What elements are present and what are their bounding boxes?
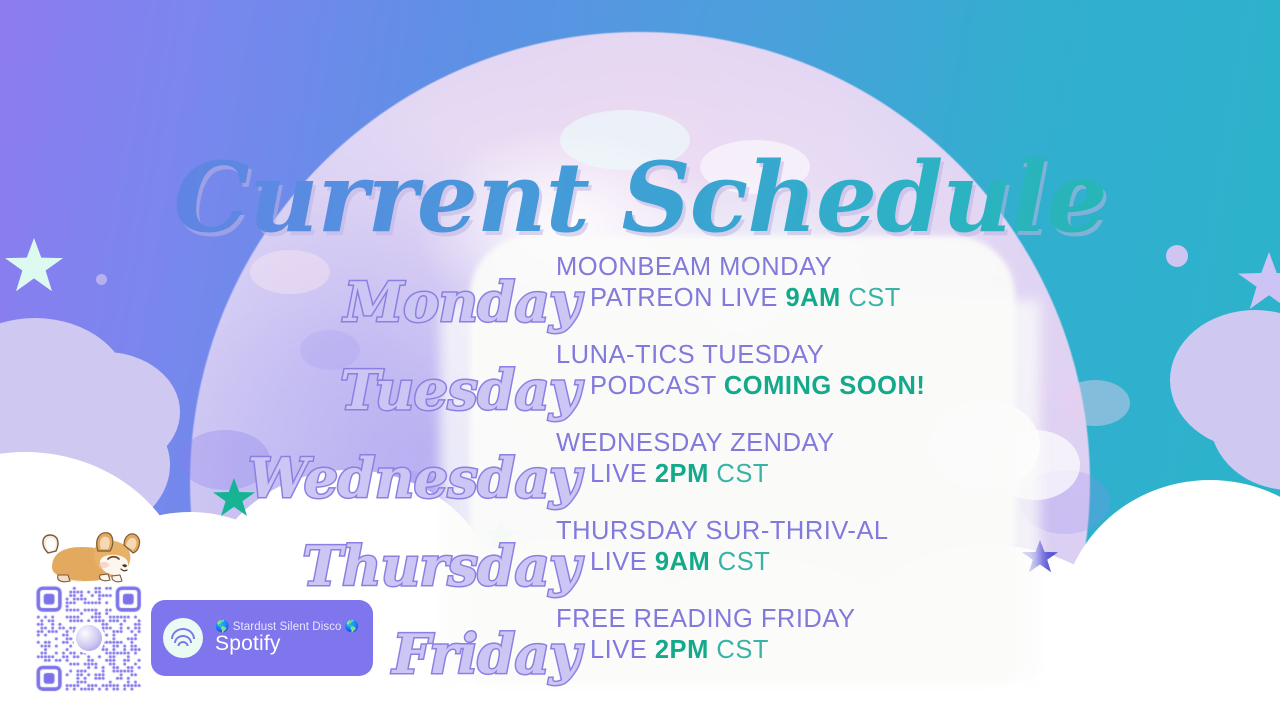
show-detail: LIVE 2PM CST — [556, 459, 1026, 490]
show-timezone: CST — [709, 460, 769, 488]
day-label-tuesday: Tuesday — [340, 363, 580, 417]
show-title: LUNA-TICS TUESDAY — [556, 340, 1026, 371]
show-time: 9AM — [785, 284, 840, 312]
detail-prefix: PATREON LIVE — [590, 284, 785, 312]
day-row: Thursday — [160, 522, 580, 610]
day-label-thursday: Thursday — [302, 539, 580, 593]
show-title: WEDNESDAY ZENDAY — [556, 428, 1026, 459]
show-title: FREE READING FRIDAY — [556, 604, 1026, 635]
schedule-entry-friday: FREE READING FRIDAY LIVE 2PM CST — [556, 604, 1026, 692]
dot-decor — [150, 560, 159, 569]
show-detail: PATREON LIVE 9AM CST — [556, 283, 1026, 314]
detail-prefix: PODCAST — [590, 372, 724, 400]
show-detail: LIVE 2PM CST — [556, 635, 1026, 666]
qr-center-moon-icon — [76, 625, 102, 651]
schedule-entry-thursday: THURSDAY SUR-THRIV-AL LIVE 9AM CST — [556, 516, 1026, 604]
show-time: 2PM — [655, 636, 709, 664]
spotify-card[interactable]: 🌎 Stardust Silent Disco 🌎 Spotify — [151, 600, 373, 676]
day-label-monday: Monday — [344, 275, 580, 329]
show-status: COMING SOON! — [724, 372, 926, 400]
qr-code[interactable] — [33, 583, 145, 693]
day-label-wednesday: Wednesday — [248, 451, 580, 505]
day-row: Wednesday — [160, 434, 580, 522]
show-time: 9AM — [655, 548, 710, 576]
show-timezone: CST — [709, 636, 769, 664]
schedule-graphic: Current Schedule Monday Tuesday Wednesda… — [0, 0, 1280, 720]
spotify-logo-icon — [163, 618, 203, 658]
mint-star — [5, 238, 63, 294]
spotify-label: Spotify — [215, 633, 359, 655]
schedule-entry-tuesday: LUNA-TICS TUESDAY PODCAST COMING SOON! — [556, 340, 1026, 428]
day-row: Monday — [160, 258, 580, 346]
detail-prefix: LIVE — [590, 460, 655, 488]
show-detail: LIVE 9AM CST — [556, 547, 1026, 578]
schedule-entry-wednesday: WEDNESDAY ZENDAY LIVE 2PM CST — [556, 428, 1026, 516]
dot-decor — [1246, 505, 1254, 513]
dot-decor — [96, 274, 107, 285]
show-time: 2PM — [655, 460, 709, 488]
day-row: Tuesday — [160, 346, 580, 434]
show-detail: PODCAST COMING SOON! — [556, 371, 1026, 402]
dot-decor — [1206, 545, 1220, 559]
show-title: THURSDAY SUR-THRIV-AL — [556, 516, 1026, 547]
show-timezone: CST — [841, 284, 901, 312]
page-title: Current Schedule — [0, 150, 1280, 246]
lavender-star-right — [1238, 252, 1280, 312]
sleeping-corgi-icon — [38, 527, 146, 589]
dot-decor — [1166, 245, 1188, 267]
show-timezone: CST — [710, 548, 770, 576]
detail-prefix: LIVE — [590, 548, 655, 576]
day-label-friday: Friday — [393, 627, 580, 681]
schedule-list: MOONBEAM MONDAY PATREON LIVE 9AM CST LUN… — [556, 252, 1026, 692]
schedule-entry-monday: MOONBEAM MONDAY PATREON LIVE 9AM CST — [556, 252, 1026, 340]
show-title: MOONBEAM MONDAY — [556, 252, 1026, 283]
detail-prefix: LIVE — [590, 636, 655, 664]
